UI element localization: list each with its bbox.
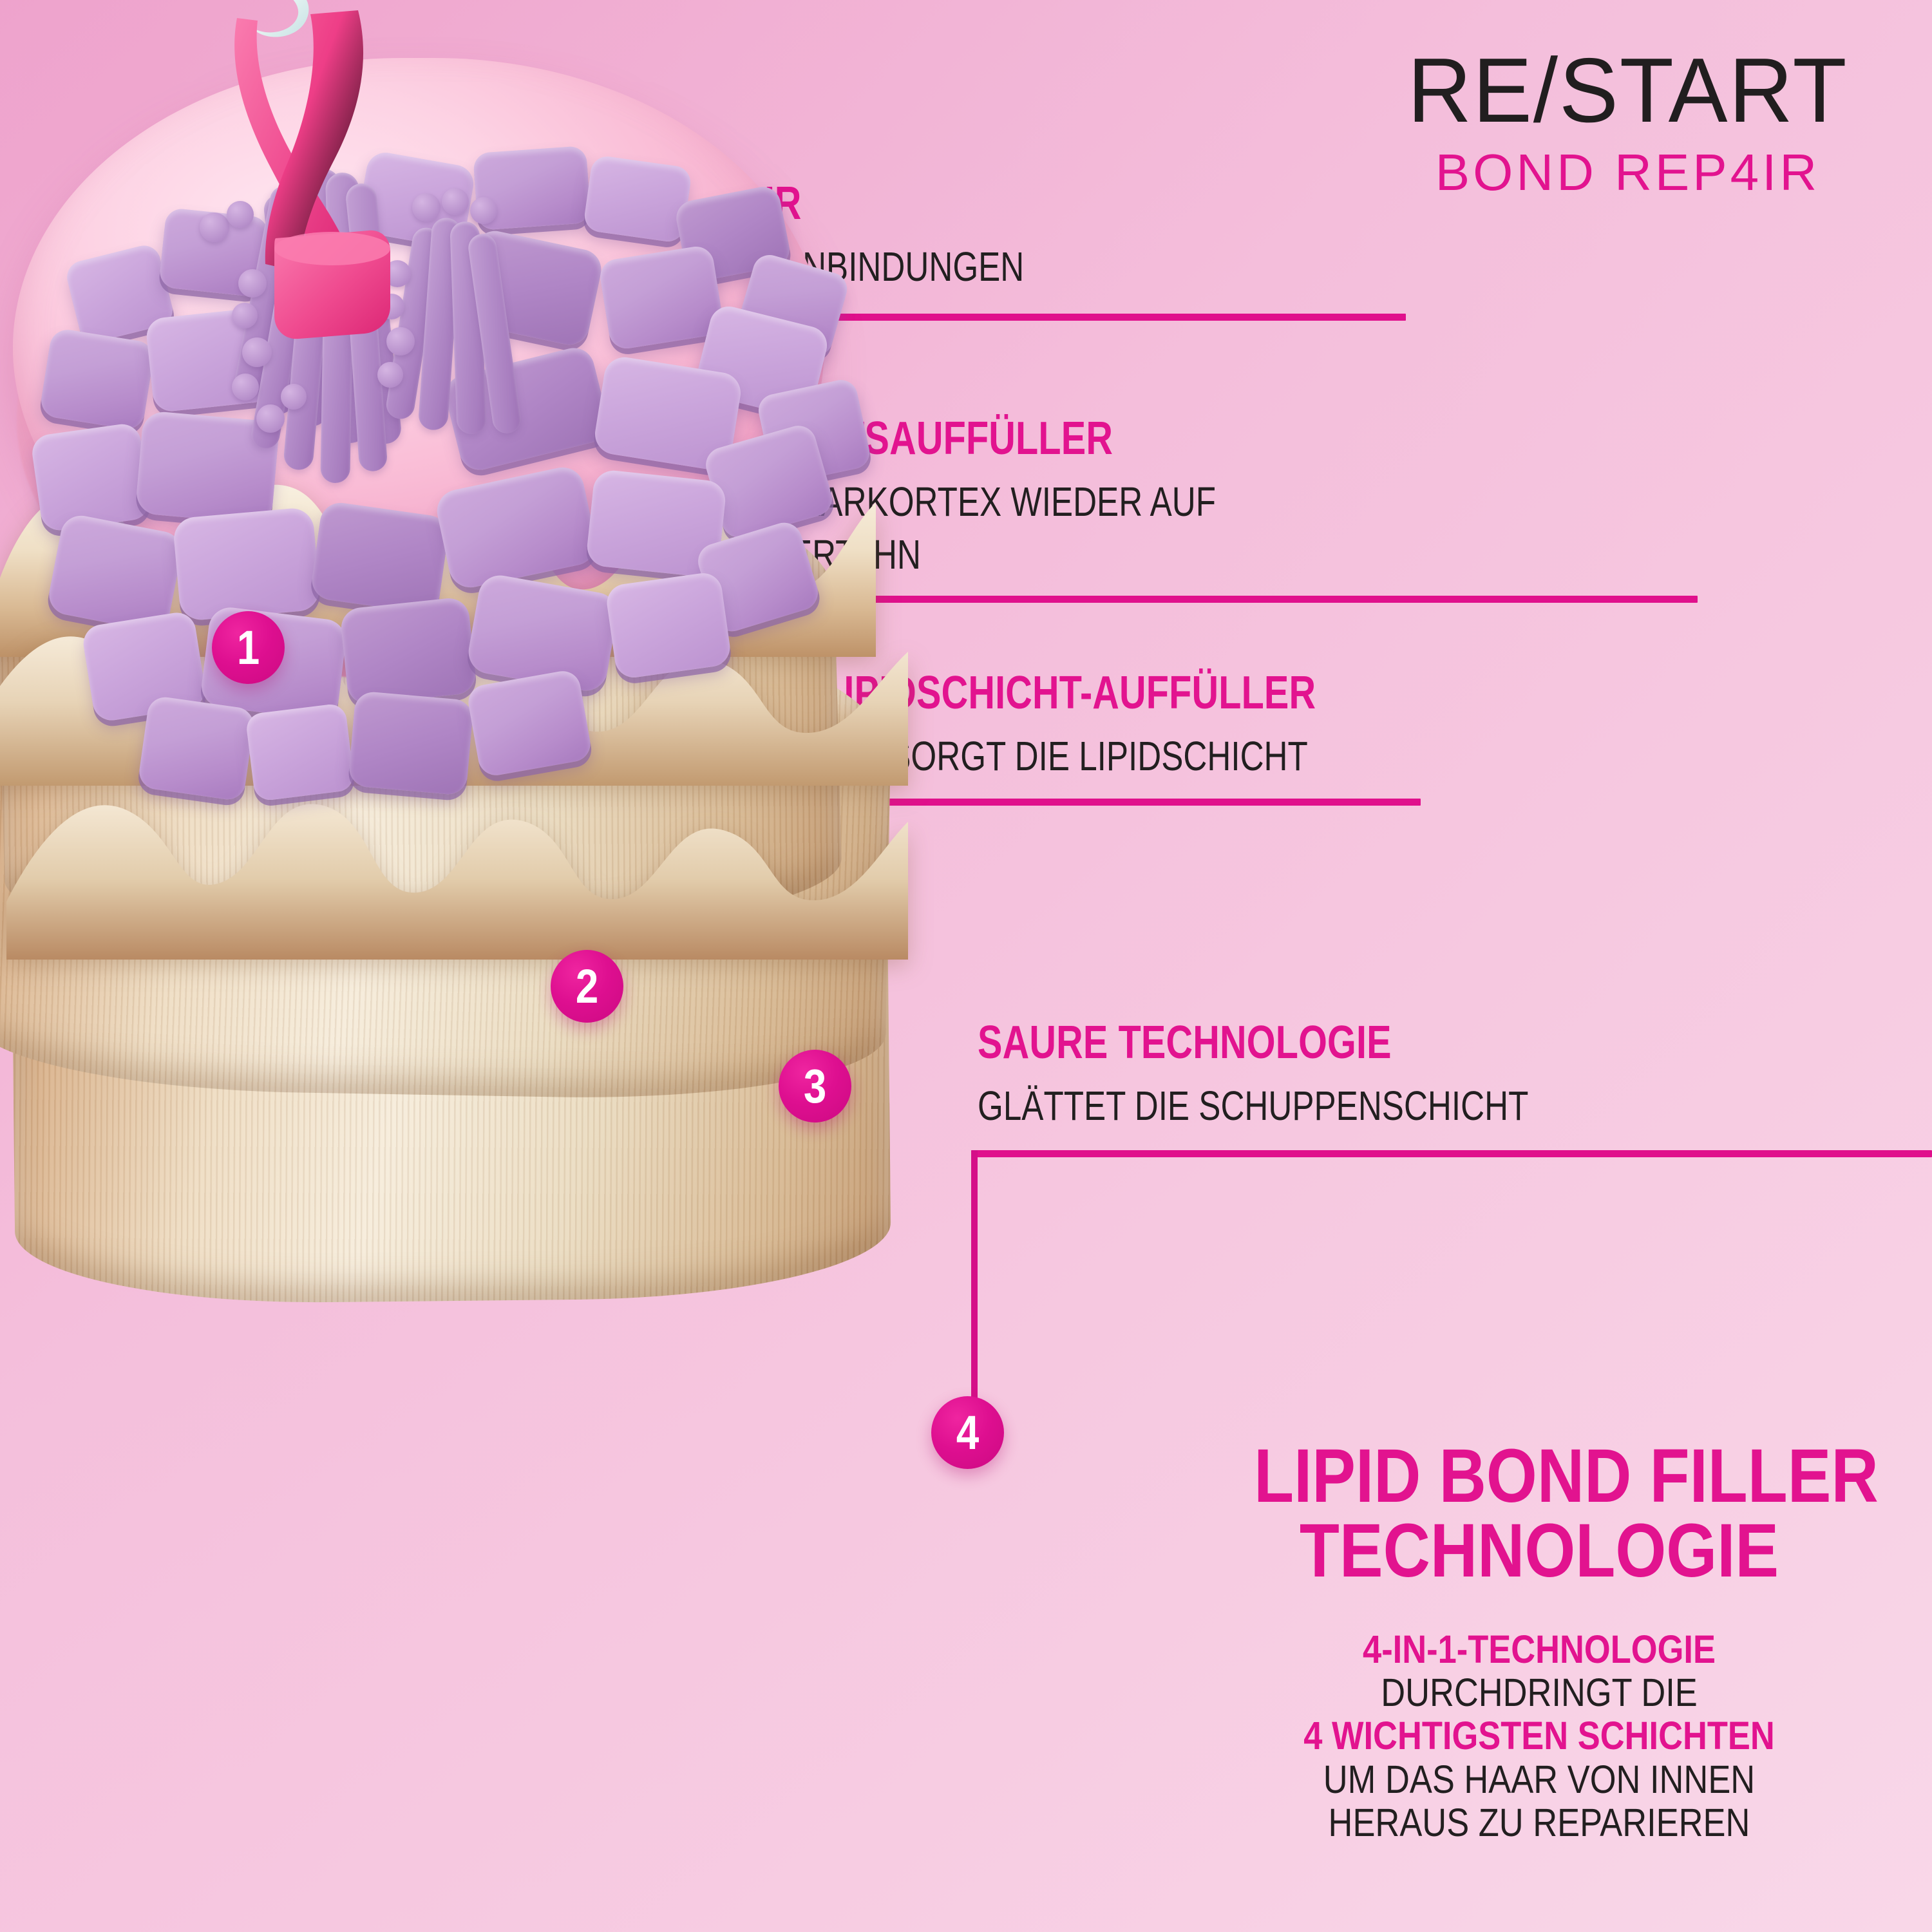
cortex-cell: [605, 571, 733, 680]
callout-4-badge-label: 4: [956, 1409, 979, 1457]
callout-3-leader-horizontal: [818, 799, 1421, 806]
keratin-fibril-dot: [377, 362, 403, 388]
callout-4: SAURE TECHNOLOGIE GLÄTTET DIE SCHUPPENSC…: [978, 1016, 1666, 1130]
cortex-cell: [466, 668, 593, 778]
keratin-fibril-dot: [281, 384, 307, 410]
cortex-cell: [245, 703, 355, 802]
product-technology-description: 4-IN-1-TECHNOLOGIE DURCHDRINGT DIE 4 WIC…: [1207, 1628, 1871, 1844]
keratin-fibril-dot: [256, 404, 285, 433]
callout-3-subtitle: VERSORGT DIE LIPIDSCHICHT: [821, 732, 1439, 780]
cortex-cell: [137, 695, 256, 802]
callout-4-subtitle: GLÄTTET DIE SCHUPPENSCHICHT: [978, 1082, 1666, 1130]
broken-keratin-bond: [161, 0, 496, 341]
description-line: HERAUS ZU REPARIEREN: [1254, 1801, 1824, 1844]
callout-3-badge-label: 3: [804, 1063, 826, 1110]
cortex-cell: [30, 422, 151, 533]
cortex-cell: [583, 155, 693, 244]
description-line: DURCHDRINGT DIE: [1254, 1671, 1824, 1714]
cortex-cell: [172, 507, 321, 621]
keratin-fibril-dot: [242, 337, 272, 367]
keratin-fibril-dot: [232, 374, 259, 401]
infographic-canvas: RE/START BOND REP4IR KERATINBRÜCKENREPAR…: [0, 0, 1932, 1932]
callout-3: LIPIDSCHICHT-AUFFÜLLER VERSORGT DIE LIPI…: [821, 667, 1439, 780]
callout-4-title: SAURE TECHNOLOGIE: [978, 1016, 1528, 1069]
callout-4-leader-horizontal: [971, 1150, 1932, 1157]
cortex-cell: [339, 596, 478, 706]
logo-restart: RE/START: [1408, 45, 1848, 137]
product-technology-title-line: TECHNOLOGIE: [1254, 1514, 1824, 1589]
cortex-cell: [39, 327, 156, 431]
logo-bond-repair: BOND REP4IR: [1401, 147, 1855, 198]
callout-1-badge[interactable]: 1: [212, 611, 285, 684]
callout-1-badge-label: 1: [237, 624, 260, 672]
callout-2-badge[interactable]: 2: [551, 950, 623, 1023]
logo-restart-text: RE/START: [1408, 39, 1848, 142]
callout-4-leader-vertical: [971, 1150, 978, 1403]
cortex-cell: [348, 690, 474, 795]
description-line-emphasis: 4 WICHTIGSTEN SCHICHTEN: [1254, 1714, 1824, 1757]
callout-2-badge-label: 2: [576, 963, 598, 1010]
bond-base-top: [274, 232, 390, 265]
callout-3-badge[interactable]: 3: [779, 1050, 851, 1122]
callout-4-badge[interactable]: 4: [931, 1396, 1004, 1469]
product-technology-title-line: LIPID BOND FILLER: [1254, 1439, 1824, 1514]
description-line: UM DAS HAAR VON INNEN: [1254, 1758, 1824, 1801]
description-line-emphasis: 4-IN-1-TECHNOLOGIE: [1254, 1628, 1824, 1671]
bottom-text-block: LIPID BOND FILLER TECHNOLOGIE 4-IN-1-TEC…: [1207, 1439, 1871, 1844]
callout-4-subtitle-line: GLÄTTET DIE SCHUPPENSCHICHT: [978, 1082, 1528, 1130]
cortex-cell: [309, 500, 450, 615]
brand-logo: RE/START BOND REP4IR: [1401, 45, 1855, 198]
product-technology-title: LIPID BOND FILLER TECHNOLOGIE: [1254, 1439, 1824, 1588]
